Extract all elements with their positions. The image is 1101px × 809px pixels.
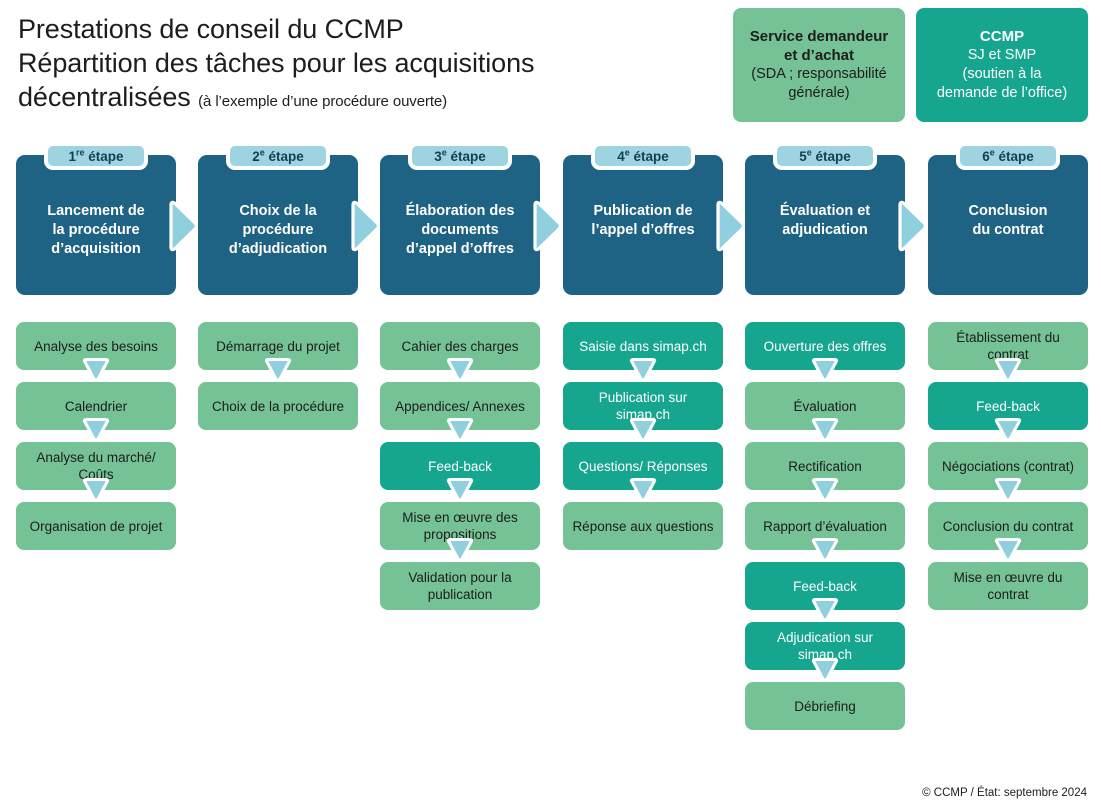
step-title-line-2: l’appel d’offres xyxy=(569,221,717,240)
step-badge-word: étape xyxy=(88,149,123,164)
task-box-appendices-annexes[interactable]: Appendices/ Annexes xyxy=(380,382,540,430)
step-title-line-2: adjudication xyxy=(751,221,899,240)
legend-sda-box: Service demandeur et d’achat (SDA ; resp… xyxy=(733,8,905,122)
step-title-line-3: d’acquisition xyxy=(22,240,170,259)
task-box-conclusion-du-contrat[interactable]: Conclusion du contrat xyxy=(928,502,1088,550)
step-column-5: Évaluation etadjudication5e étape xyxy=(745,155,905,295)
step-title-6: Conclusiondu contrat xyxy=(934,202,1082,240)
step-badge-3: 3e étape xyxy=(408,142,512,170)
task-label: Adjudication sur simap.ch xyxy=(753,629,897,663)
legend-sda-detail-line2: générale) xyxy=(750,84,888,103)
task-box-rapport-d-evaluation[interactable]: Rapport d’évaluation xyxy=(745,502,905,550)
step-title-line-1: Choix de la xyxy=(204,202,352,221)
step-badge-1: 1re étape xyxy=(44,142,148,170)
task-label: Questions/ Réponses xyxy=(578,458,707,475)
task-box-mise-en-uvre-du-contrat[interactable]: Mise en œuvre du contrat xyxy=(928,562,1088,610)
task-label: Rapport d’évaluation xyxy=(763,518,887,535)
task-column-6: Établissement du contratFeed-backNégocia… xyxy=(928,322,1088,622)
task-box-feed-back[interactable]: Feed-back xyxy=(928,382,1088,430)
task-down-arrow-icon xyxy=(444,358,476,384)
step-badge-number: 1re xyxy=(68,149,84,164)
step-column-4: Publication del’appel d’offres4e étape xyxy=(563,155,723,295)
task-label: Analyse des besoins xyxy=(34,338,158,355)
task-box-cahier-des-charges[interactable]: Cahier des charges xyxy=(380,322,540,370)
task-box-questions-reponses[interactable]: Questions/ Réponses xyxy=(563,442,723,490)
task-down-arrow-icon xyxy=(627,358,659,384)
task-box-ouverture-des-offres[interactable]: Ouverture des offres xyxy=(745,322,905,370)
task-label: Débriefing xyxy=(794,698,856,715)
task-box-reponse-aux-questions[interactable]: Réponse aux questions xyxy=(563,502,723,550)
title-subtitle: (à l’exemple d’une procédure ouverte) xyxy=(198,93,447,110)
task-label: Mise en œuvre des propositions xyxy=(388,509,532,543)
task-label: Calendrier xyxy=(65,398,127,415)
step-badge-number: 5e xyxy=(799,149,812,164)
task-box-evaluation[interactable]: Évaluation xyxy=(745,382,905,430)
step-chevron-2-to-3-icon xyxy=(350,200,380,252)
legend-ccmp-name: CCMP xyxy=(937,27,1067,46)
copyright-footer: © CCMP / État: septembre 2024 xyxy=(922,787,1087,799)
task-box-analyse-des-besoins[interactable]: Analyse des besoins xyxy=(16,322,176,370)
task-down-arrow-icon xyxy=(992,478,1024,504)
step-title-4: Publication del’appel d’offres xyxy=(569,202,717,240)
step-column-6: Conclusiondu contrat6e étape xyxy=(928,155,1088,295)
step-badge-ordinal-suffix: e xyxy=(625,147,630,157)
task-box-choix-de-la-procedure[interactable]: Choix de la procédure xyxy=(198,382,358,430)
task-down-arrow-icon xyxy=(444,478,476,504)
task-down-arrow-icon xyxy=(80,358,112,384)
task-label: Choix de la procédure xyxy=(212,398,344,415)
task-box-etablissement-du-contrat[interactable]: Établissement du contrat xyxy=(928,322,1088,370)
task-label: Publication sur simap.ch xyxy=(571,389,715,423)
step-badge-word: étape xyxy=(999,149,1034,164)
task-label: Rectification xyxy=(788,458,862,475)
step-header-6[interactable]: Conclusiondu contrat xyxy=(928,155,1088,295)
step-badge-number: 3e xyxy=(434,149,447,164)
step-header-1[interactable]: Lancement dela procédured’acquisition xyxy=(16,155,176,295)
step-title-line-2: documents xyxy=(386,221,534,240)
title-line-3: décentralisées (à l’exemple d’une procéd… xyxy=(18,80,718,119)
step-column-2: Choix de laprocédured’adjudication2e éta… xyxy=(198,155,358,295)
task-down-arrow-icon xyxy=(992,538,1024,564)
task-label: Négociations (contrat) xyxy=(942,458,1074,475)
step-title-5: Évaluation etadjudication xyxy=(751,202,899,240)
task-down-arrow-icon xyxy=(80,418,112,444)
title-line-3-main: décentralisées xyxy=(18,82,191,112)
diagram-canvas: Prestations de conseil du CCMP Répartiti… xyxy=(0,0,1101,809)
task-column-3: Cahier des chargesAppendices/ AnnexesFee… xyxy=(380,322,540,622)
task-down-arrow-icon xyxy=(444,418,476,444)
task-box-negociations-contrat[interactable]: Négociations (contrat) xyxy=(928,442,1088,490)
step-title-line-1: Lancement de xyxy=(22,202,170,221)
task-box-feed-back[interactable]: Feed-back xyxy=(745,562,905,610)
task-down-arrow-icon xyxy=(809,418,841,444)
step-chevron-5-to-6-icon xyxy=(897,200,927,252)
task-down-arrow-icon xyxy=(809,598,841,624)
task-label: Saisie dans simap.ch xyxy=(579,338,707,355)
step-badge-ordinal-suffix: e xyxy=(990,147,995,157)
step-title-1: Lancement dela procédured’acquisition xyxy=(22,202,170,259)
legend-ccmp-detail-line2: (soutien à la xyxy=(937,65,1067,84)
task-box-publication-sur-simap-ch[interactable]: Publication sur simap.ch xyxy=(563,382,723,430)
legend-ccmp-detail-line3: demande de l’office) xyxy=(937,84,1067,103)
task-column-5: Ouverture des offresÉvaluationRectificat… xyxy=(745,322,905,742)
task-box-saisie-dans-simap-ch[interactable]: Saisie dans simap.ch xyxy=(563,322,723,370)
task-column-4: Saisie dans simap.chPublication sur sima… xyxy=(563,322,723,562)
task-label: Évaluation xyxy=(793,398,856,415)
legend-ccmp-box: CCMP SJ et SMP (soutien à la demande de … xyxy=(916,8,1088,122)
task-down-arrow-icon xyxy=(809,538,841,564)
step-badge-ordinal-suffix: e xyxy=(807,147,812,157)
task-box-debriefing[interactable]: Débriefing xyxy=(745,682,905,730)
step-header-5[interactable]: Évaluation etadjudication xyxy=(745,155,905,295)
task-down-arrow-icon xyxy=(809,358,841,384)
task-label: Appendices/ Annexes xyxy=(395,398,525,415)
step-badge-word: étape xyxy=(634,149,669,164)
step-badge-4: 4e étape xyxy=(591,142,695,170)
task-box-validation-pour-la-publication[interactable]: Validation pour la publication xyxy=(380,562,540,610)
title-line-2: Répartition des tâches pour les acquisit… xyxy=(18,46,718,80)
task-label: Feed-back xyxy=(793,578,857,595)
task-label: Ouverture des offres xyxy=(764,338,887,355)
task-box-organisation-de-projet[interactable]: Organisation de projet xyxy=(16,502,176,550)
task-box-analyse-du-marche-couts[interactable]: Analyse du marché/ Coûts xyxy=(16,442,176,490)
task-box-rectification[interactable]: Rectification xyxy=(745,442,905,490)
task-label: Réponse aux questions xyxy=(572,518,713,535)
step-badge-5: 5e étape xyxy=(773,142,877,170)
step-badge-word: étape xyxy=(816,149,851,164)
step-badge-ordinal-suffix: e xyxy=(442,147,447,157)
legend-sda-detail-line1: (SDA ; responsabilité xyxy=(750,65,888,84)
step-column-1: Lancement dela procédured’acquisition1re… xyxy=(16,155,176,295)
task-box-adjudication-sur-simap-ch[interactable]: Adjudication sur simap.ch xyxy=(745,622,905,670)
task-label: Démarrage du projet xyxy=(216,338,340,355)
task-label: Mise en œuvre du contrat xyxy=(936,569,1080,603)
task-box-feed-back[interactable]: Feed-back xyxy=(380,442,540,490)
task-column-2: Démarrage du projetChoix de la procédure xyxy=(198,322,358,442)
step-chevron-3-to-4-icon xyxy=(532,200,562,252)
task-down-arrow-icon xyxy=(992,418,1024,444)
step-badge-number: 4e xyxy=(617,149,630,164)
title-line-1: Prestations de conseil du CCMP xyxy=(18,12,718,46)
step-title-line-1: Conclusion xyxy=(934,202,1082,221)
step-badge-number: 6e xyxy=(982,149,995,164)
legend-ccmp-detail-line1: SJ et SMP xyxy=(937,46,1067,65)
step-badge-word: étape xyxy=(451,149,486,164)
task-box-demarrage-du-projet[interactable]: Démarrage du projet xyxy=(198,322,358,370)
task-label: Analyse du marché/ Coûts xyxy=(24,449,168,483)
step-chevron-1-to-2-icon xyxy=(168,200,198,252)
step-badge-6: 6e étape xyxy=(956,142,1060,170)
task-label: Cahier des charges xyxy=(401,338,518,355)
step-title-line-2: la procédure xyxy=(22,221,170,240)
legend-sda-name-line2: et d’achat xyxy=(750,46,888,65)
step-title-line-3: d’appel d’offres xyxy=(386,240,534,259)
task-column-1: Analyse des besoinsCalendrierAnalyse du … xyxy=(16,322,176,562)
step-badge-number: 2e xyxy=(252,149,265,164)
step-title-line-1: Évaluation et xyxy=(751,202,899,221)
task-box-mise-en-uvre-des-propositions[interactable]: Mise en œuvre des propositions xyxy=(380,502,540,550)
step-badge-ordinal-suffix: re xyxy=(76,147,85,157)
step-title-line-2: du contrat xyxy=(934,221,1082,240)
step-header-3[interactable]: Élaboration desdocumentsd’appel d’offres xyxy=(380,155,540,295)
task-down-arrow-icon xyxy=(627,478,659,504)
step-title-line-1: Élaboration des xyxy=(386,202,534,221)
task-down-arrow-icon xyxy=(262,358,294,384)
task-label: Conclusion du contrat xyxy=(943,518,1074,535)
step-title-line-1: Publication de xyxy=(569,202,717,221)
legend-sda-name-line1: Service demandeur xyxy=(750,27,888,46)
task-box-calendrier[interactable]: Calendrier xyxy=(16,382,176,430)
page-title: Prestations de conseil du CCMP Répartiti… xyxy=(18,12,718,119)
step-title-3: Élaboration desdocumentsd’appel d’offres xyxy=(386,202,534,259)
step-chevron-4-to-5-icon xyxy=(715,200,745,252)
step-title-line-2: procédure xyxy=(204,221,352,240)
step-column-3: Élaboration desdocumentsd’appel d’offres… xyxy=(380,155,540,295)
step-header-4[interactable]: Publication del’appel d’offres xyxy=(563,155,723,295)
task-down-arrow-icon xyxy=(809,478,841,504)
step-title-line-3: d’adjudication xyxy=(204,240,352,259)
task-label: Validation pour la publication xyxy=(388,569,532,603)
step-badge-word: étape xyxy=(269,149,304,164)
step-badge-2: 2e étape xyxy=(226,142,330,170)
step-title-2: Choix de laprocédured’adjudication xyxy=(204,202,352,259)
task-label: Organisation de projet xyxy=(30,518,163,535)
task-label: Établissement du contrat xyxy=(936,329,1080,363)
step-header-2[interactable]: Choix de laprocédured’adjudication xyxy=(198,155,358,295)
step-badge-ordinal-suffix: e xyxy=(260,147,265,157)
task-label: Feed-back xyxy=(428,458,492,475)
task-label: Feed-back xyxy=(976,398,1040,415)
